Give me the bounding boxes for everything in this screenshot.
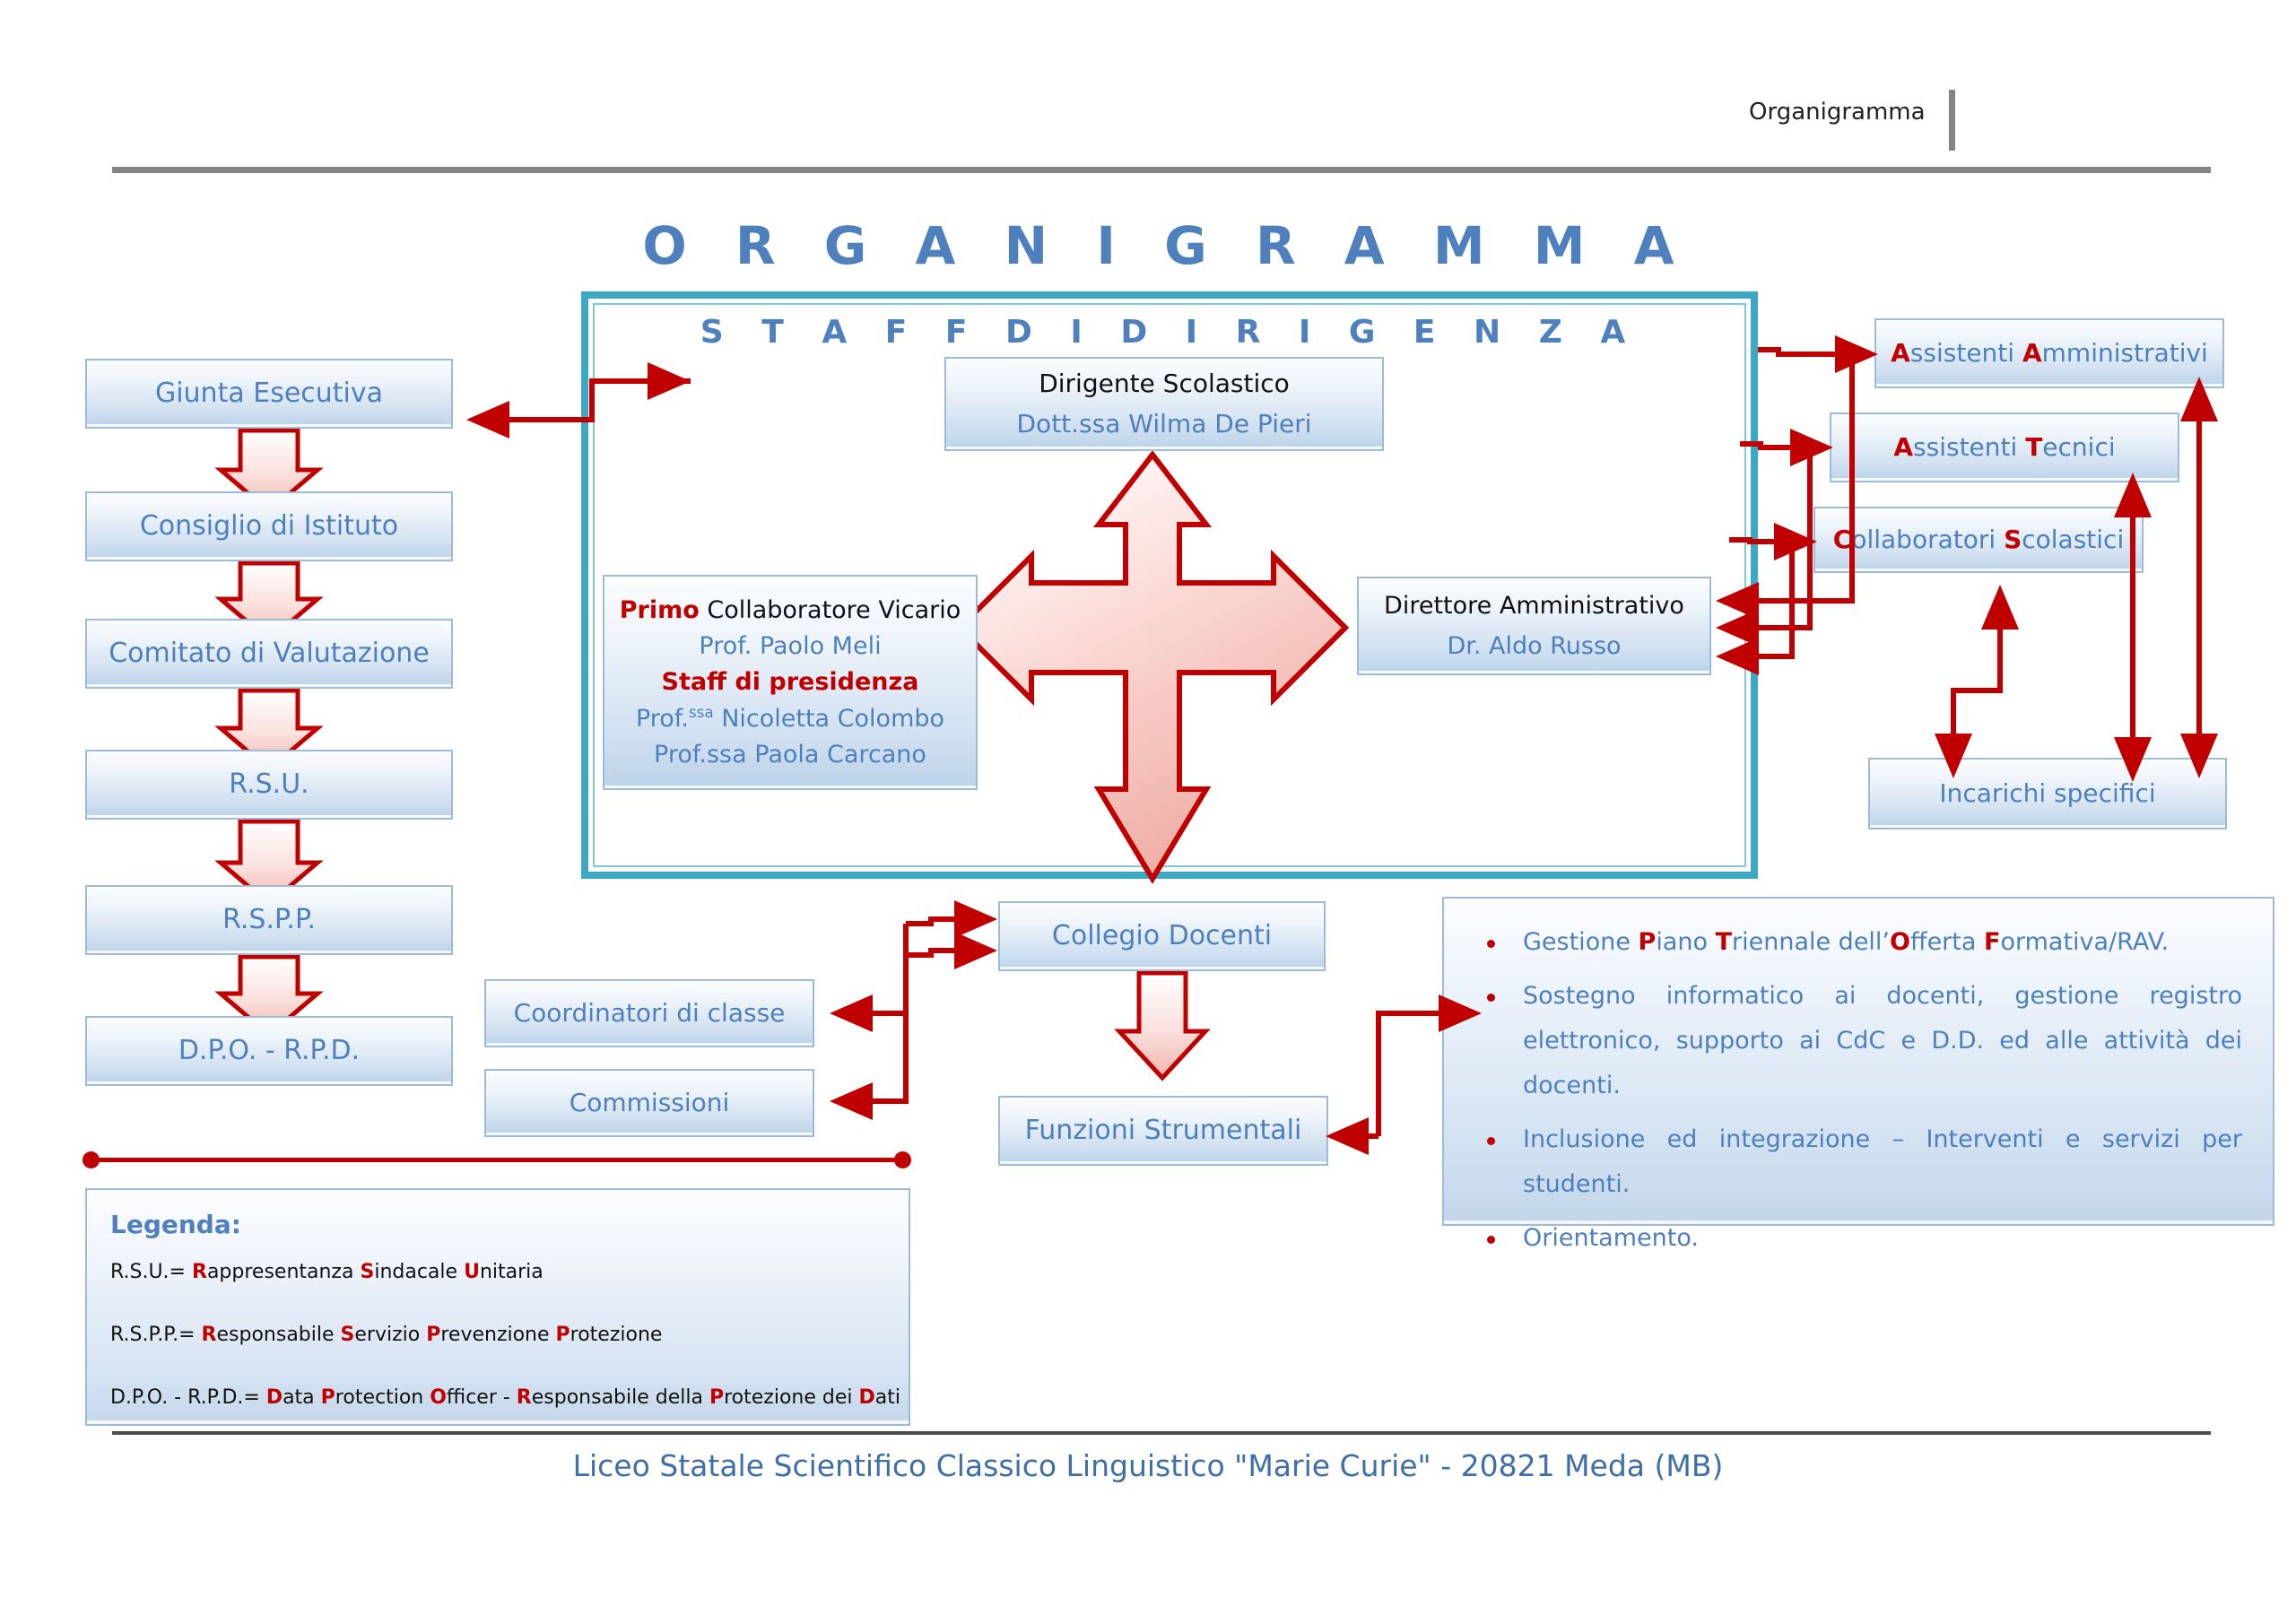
highlight-initial: R (192, 1261, 207, 1283)
highlight-initial: P (1639, 928, 1657, 956)
text-part: fficer - (447, 1386, 517, 1409)
label-part: ssistenti (1913, 432, 2025, 462)
box-dpo-rpd[interactable]: D.P.O. - R.P.D. (85, 1016, 453, 1086)
box-label: D.P.O. - R.P.D. (178, 1032, 360, 1069)
box-collaboratori-scolastici[interactable]: Collaboratori Scolastici (1813, 507, 2144, 573)
text-part: ervizio (354, 1324, 426, 1346)
text-part: Inclusione ed integrazione – Interventi … (1523, 1125, 2242, 1198)
box-label: Consiglio di Istituto (140, 508, 398, 544)
initial-letter: A (2022, 338, 2042, 368)
prof-superscript: ssa (689, 703, 714, 721)
box-assistenti-tecnici[interactable]: Assistenti Tecnici (1830, 413, 2179, 482)
text-part: Gestione (1523, 928, 1639, 956)
box-giunta-esecutiva[interactable]: Giunta Esecutiva (85, 359, 453, 429)
vicario-role-bold: Primo (620, 596, 700, 624)
highlight-initial: O (430, 1386, 447, 1409)
box-label: R.S.P.P. (222, 901, 316, 938)
presidenza-name-2: Prof.ssa Paola Carcano (654, 738, 926, 771)
text-part: rotezione (570, 1324, 663, 1346)
text-part: esponsabile della (532, 1386, 709, 1409)
list-item: Inclusione ed integrazione – Interventi … (1467, 1117, 2242, 1207)
box-collegio-docenti[interactable]: Collegio Docenti (998, 901, 1326, 971)
box-funzioni-strumentali[interactable]: Funzioni Strumentali (998, 1096, 1328, 1166)
highlight-initial: P (709, 1386, 724, 1409)
box-direttore-amministrativo[interactable]: Direttore Amministrativo Dr. Aldo Russo (1357, 577, 1711, 675)
legend-panel: Legenda: R.S.U.= Rappresentanza Sindacal… (85, 1188, 910, 1426)
label-part: mministrativi (2042, 338, 2208, 368)
header-label: Organigramma (1749, 99, 1926, 126)
highlight-initial: R (517, 1386, 532, 1409)
initial-letter: S (2004, 525, 2022, 554)
conn-collegio-coordinatori-commissioni (830, 900, 997, 1120)
label-part: ollaboratori (1851, 525, 2004, 554)
highlight-initial: S (341, 1324, 355, 1346)
box-rsu[interactable]: R.S.U. (85, 750, 453, 820)
collegio-to-funzioni-arrow (1119, 973, 1205, 1078)
box-label: R.S.U. (229, 766, 309, 803)
box-label: Funzioni Strumentali (1025, 1112, 1302, 1149)
initial-letter: A (1891, 338, 1910, 368)
highlight-initial: D (266, 1386, 283, 1409)
text-part: Orientamento. (1523, 1224, 1699, 1252)
page-title: O R G A N I G R A M M A (574, 215, 1758, 276)
staff-presidenza-subtitle: Staff di presidenza (662, 665, 919, 699)
box-label: Assistenti Tecnici (1893, 430, 2115, 465)
list-item: Sostegno informatico ai docenti, gestion… (1467, 974, 2242, 1108)
legend-entry-dpo: D.P.O. - R.P.D.= Data Protection Officer… (110, 1386, 885, 1409)
highlight-initial: P (321, 1386, 335, 1409)
bullet-list: Gestione Piano Triennale dell’Offerta Fo… (1467, 920, 2242, 1261)
header-rule (112, 167, 2211, 173)
highlight-initial: U (464, 1261, 480, 1283)
legend-entry-rspp: R.S.P.P.= Responsabile Servizio Prevenzi… (110, 1324, 885, 1346)
staff-frame-heading: S T A F F D I D I R I G E N Z A (581, 314, 1758, 351)
box-incarichi-specifici[interactable]: Incarichi specifici (1868, 758, 2227, 829)
initial-letter: A (1893, 432, 1913, 462)
legend-endpoint-dot-right (894, 1151, 911, 1168)
box-label: Collaboratori Scolastici (1833, 523, 2124, 558)
text-part: ata (283, 1386, 321, 1409)
initial-letter: T (2025, 432, 2042, 462)
initial-letter: C (1833, 525, 1852, 554)
vicario-role-rest: Collaboratore Vicario (700, 596, 961, 624)
text-part: indacale (374, 1261, 464, 1283)
text-part: ati (875, 1386, 900, 1409)
legend-endpoint-dot-left (83, 1151, 100, 1168)
label-part: ecnici (2042, 432, 2115, 462)
list-item: Orientamento. (1467, 1216, 2242, 1261)
highlight-initial: D (859, 1386, 875, 1409)
box-rspp[interactable]: R.S.P.P. (85, 885, 453, 955)
text-part: rotection (335, 1386, 430, 1409)
text-part: nitaria (480, 1261, 544, 1283)
text-part: R.S.U.= (110, 1261, 192, 1283)
text-part: iano (1656, 928, 1715, 956)
presidenza-name-1: Prof.ssa Nicoletta Colombo (636, 702, 944, 735)
box-label: Collegio Docenti (1052, 917, 1272, 954)
panel-funzioni-strumentali-tasks: Gestione Piano Triennale dell’Offerta Fo… (1442, 897, 2274, 1226)
highlight-initial: S (360, 1261, 374, 1283)
text-part: rotezione dei (724, 1386, 858, 1409)
prof-surname: Nicoletta Colombo (714, 705, 944, 733)
highlight-initial: F (1984, 928, 2000, 956)
box-label: Comitato di Valutazione (109, 635, 430, 672)
text-part: Sostegno informatico ai docenti, gestion… (1523, 982, 2242, 1099)
header-divider-tick (1949, 90, 1955, 151)
direttore-name: Dr. Aldo Russo (1447, 630, 1621, 663)
direttore-role: Direttore Amministrativo (1384, 589, 1684, 622)
box-comitato-di-valutazione[interactable]: Comitato di Valutazione (85, 619, 453, 689)
conn-incarichi-to-amministrativi (2180, 377, 2218, 778)
box-consiglio-di-istituto[interactable]: Consiglio di Istituto (85, 491, 453, 561)
highlight-initial: R (202, 1324, 217, 1346)
dirigente-name: Dott.ssa Wilma De Pieri (1017, 407, 1312, 442)
label-part: colastici (2022, 525, 2124, 554)
box-assistenti-amministrativi[interactable]: Assistenti Amministrativi (1874, 318, 2224, 388)
highlight-initial: P (426, 1324, 440, 1346)
legend-connector-rule (90, 1158, 906, 1162)
text-part: R.S.P.P.= (110, 1324, 202, 1346)
text-part: esponsabile (217, 1324, 341, 1346)
box-commissioni[interactable]: Commissioni (484, 1069, 814, 1137)
box-coordinatori-di-classe[interactable]: Coordinatori di classe (484, 979, 814, 1047)
box-label: Commissioni (570, 1086, 730, 1121)
footer-rule (112, 1431, 2211, 1435)
text-part: ormativa/RAV. (2000, 928, 2169, 956)
highlight-initial: T (1716, 928, 1732, 956)
box-label: Incarichi specifici (1939, 777, 2155, 812)
box-dirigente-scolastico[interactable]: Dirigente Scolastico Dott.ssa Wilma De P… (944, 357, 1384, 451)
box-label: Assistenti Amministrativi (1891, 336, 2208, 371)
text-part: fferta (1910, 928, 1984, 956)
text-part: riennale dell’ (1732, 928, 1890, 956)
dirigente-role: Dirigente Scolastico (1039, 367, 1290, 402)
text-part: D.P.O. - R.P.D.= (110, 1386, 266, 1409)
box-collaboratore-vicario[interactable]: Primo Collaboratore Vicario Prof. Paolo … (603, 575, 978, 790)
legend-title: Legenda: (110, 1210, 885, 1239)
prof-prefix: Prof. (636, 705, 689, 733)
footer-text: Liceo Statale Scientifico Classico Lingu… (0, 1448, 2296, 1483)
conn-incarichi-to-collaboratori (1935, 585, 2019, 778)
legend-entry-rsu: R.S.U.= Rappresentanza Sindacale Unitari… (110, 1261, 885, 1283)
text-part: revenzione (440, 1324, 555, 1346)
box-label: Coordinatori di classe (514, 996, 786, 1031)
highlight-initial: O (1890, 928, 1910, 956)
label-part: ssistenti (1910, 338, 2022, 368)
highlight-initial: P (556, 1324, 570, 1346)
list-item: Gestione Piano Triennale dell’Offerta Fo… (1467, 920, 2242, 965)
box-label: Giunta Esecutiva (155, 375, 383, 412)
vicario-role: Primo Collaboratore Vicario (620, 594, 961, 627)
text-part: appresentanza (207, 1261, 361, 1283)
vicario-name: Prof. Paolo Meli (699, 630, 881, 663)
